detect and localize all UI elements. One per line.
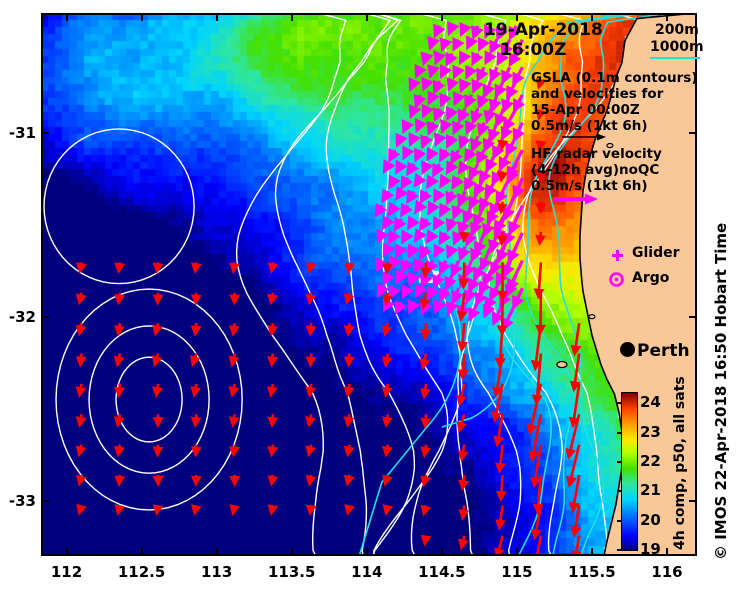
hf-radar-velocity-arrow xyxy=(398,274,401,279)
hf-radar-velocity-arrow xyxy=(466,205,472,220)
gsla-velocity-arrow xyxy=(119,293,120,302)
colorbar-tick xyxy=(617,461,622,463)
hf-radar-velocity-arrow xyxy=(409,192,414,200)
hf-radar-velocity-arrow xyxy=(467,95,471,105)
hf-radar-velocity-arrow xyxy=(476,178,484,193)
hf-radar-velocity-arrow xyxy=(423,136,426,144)
hf-radar-velocity-arrow xyxy=(422,219,427,227)
glider-marker-icon xyxy=(611,249,624,262)
y-axis-tick xyxy=(42,132,49,134)
hf-radar-velocity-arrow xyxy=(468,67,472,75)
hf-radar-velocity-arrow xyxy=(436,109,439,118)
hf-radar-velocity-arrow xyxy=(509,81,517,95)
hf-radar-velocity-arrow xyxy=(470,274,478,287)
hf-radar-velocity-arrow xyxy=(435,164,440,173)
hf-radar-velocity-arrow xyxy=(448,53,452,62)
hf-radar-velocity-arrow xyxy=(455,233,458,241)
gsla-description: GSLA (0.1m contours) and velocities for … xyxy=(531,70,698,134)
gsla-velocity-arrow xyxy=(157,505,158,512)
hf-radar-velocity-arrow xyxy=(447,274,452,286)
gsla-velocity-arrow xyxy=(463,475,465,487)
gsla-velocity-arrow xyxy=(425,445,426,454)
gsla-velocity-arrow xyxy=(424,475,426,483)
hf-radar-velocity-arrow xyxy=(454,178,459,186)
hf-radar-velocity-arrow xyxy=(498,109,504,123)
gsla-velocity-arrow xyxy=(309,414,311,423)
hf-radar-velocity-arrow xyxy=(443,123,446,130)
gsla-velocity-arrow xyxy=(118,445,119,454)
hf-radar-velocity-arrow xyxy=(390,150,394,158)
hf-radar-velocity-arrow xyxy=(431,40,433,46)
hf-radar-velocity-arrow xyxy=(492,40,497,50)
gsla-velocity-arrow xyxy=(573,475,579,509)
hf-radar-velocity-arrow xyxy=(461,136,465,145)
colorbar-title: 4h comp, p50, all sats xyxy=(672,400,688,550)
gsla-velocity-arrow xyxy=(348,475,350,482)
hf-radar-velocity-arrow xyxy=(422,247,427,256)
hf-radar-velocity-arrow xyxy=(431,67,433,74)
gsla-velocity-arrow xyxy=(81,354,82,364)
gsla-velocity-arrow xyxy=(501,171,502,178)
hf-radar-velocity-arrow xyxy=(486,302,491,314)
hf-radar-velocity-arrow xyxy=(460,164,465,171)
gsla-scale-arrow-icon xyxy=(561,131,607,143)
hf-radar-velocity-arrow xyxy=(474,109,478,120)
gsla-velocity-arrow xyxy=(464,262,465,285)
hf-radar-velocity-arrow xyxy=(437,53,440,60)
x-axis-tick-label: 115.5 xyxy=(568,563,615,581)
x-axis-tick xyxy=(666,548,668,555)
gsla-velocity-arrow xyxy=(424,384,426,396)
gsla-velocity-arrow xyxy=(386,354,388,364)
hf-radar-velocity-arrow xyxy=(398,164,402,170)
hf-radar-velocity-arrow xyxy=(461,247,465,257)
gsla-velocity-arrow xyxy=(158,445,159,454)
gsla-velocity-arrow xyxy=(234,262,235,269)
hf-radar-velocity-arrow xyxy=(488,109,491,120)
hf-radar-velocity-arrow xyxy=(379,288,382,293)
date-label: 19-Apr-2018 xyxy=(484,20,603,40)
hf-radar-velocity-arrow xyxy=(442,95,446,103)
island xyxy=(557,362,567,368)
gsla-velocity-arrow xyxy=(118,414,120,423)
hf-radar-velocity-arrow xyxy=(455,40,459,48)
hf-radar-velocity-arrow xyxy=(468,233,472,243)
colorbar-tick-label: 24 xyxy=(640,393,661,411)
gsla-velocity-arrow xyxy=(195,505,196,511)
hf-radar-velocity-arrow xyxy=(404,123,407,130)
time-label: 16:00Z xyxy=(500,40,566,60)
gsla-velocity-arrow xyxy=(501,475,503,498)
gsla-contour-line xyxy=(44,129,194,284)
hf-radar-velocity-arrow xyxy=(461,219,465,231)
hf-radar-velocity-arrow xyxy=(404,288,407,294)
colorbar-tick-label: 21 xyxy=(640,481,661,499)
hf-radar-velocity-arrow xyxy=(450,26,452,31)
hf-radar-velocity-arrow xyxy=(473,136,477,147)
hf-radar-velocity-arrow xyxy=(468,123,472,131)
hf-radar-velocity-arrow xyxy=(409,164,414,172)
hf-radar-velocity-arrow xyxy=(441,233,446,241)
glider-legend-label: Glider xyxy=(632,245,680,261)
colorbar-tick xyxy=(617,490,622,492)
colorbar-tick xyxy=(617,520,622,522)
hf-radar-velocity-arrow xyxy=(417,261,421,269)
hf-radar-velocity-arrow xyxy=(442,178,446,185)
hf-radar-velocity-arrow xyxy=(466,261,471,274)
hf-radar-velocity-arrow xyxy=(396,219,401,227)
hf-radar-velocity-arrow xyxy=(471,164,478,176)
x-axis-tick xyxy=(441,548,443,555)
x-axis-tick-label: 113 xyxy=(201,563,232,581)
hf-radar-velocity-arrow xyxy=(397,302,401,311)
gsla-velocity-arrow xyxy=(157,262,158,269)
gsla-velocity-arrow xyxy=(272,414,273,424)
x-axis-tick-label: 116 xyxy=(651,563,682,581)
hf-radar-velocity-arrow xyxy=(491,123,497,139)
hf-radar-velocity-arrow xyxy=(436,247,440,254)
hf-radar-velocity-arrow xyxy=(441,288,446,298)
hf-radar-velocity-arrow xyxy=(411,81,414,87)
gsla-velocity-arrow xyxy=(386,384,388,394)
hf-radar-velocity-arrow xyxy=(460,109,465,119)
colorbar-tick-label: 22 xyxy=(640,452,661,470)
gsla-velocity-arrow xyxy=(310,475,312,483)
gsla-contour-line xyxy=(116,357,182,442)
hf-radar-velocity-arrow xyxy=(398,136,401,143)
gsla-velocity-arrow xyxy=(80,475,82,483)
hf-radar-velocity-arrow xyxy=(391,178,395,185)
gsla-velocity-arrow xyxy=(195,323,196,332)
hf-radar-velocity-arrow xyxy=(418,123,421,129)
gsla-velocity-arrow xyxy=(575,505,580,533)
hf-radar-velocity-arrow xyxy=(385,302,388,308)
figure-root: 19-Apr-2018 16:00Z 200m 1000m GSLA (0.1m… xyxy=(0,0,739,592)
hf-radar-description: HF radar velocity (4-12h avg)noQC 0.5m/s… xyxy=(531,146,662,194)
gsla-velocity-arrow xyxy=(349,354,350,364)
hf-radar-velocity-arrow xyxy=(384,192,388,199)
x-axis-tick-label: 114.5 xyxy=(418,563,465,581)
hf-radar-velocity-arrow xyxy=(486,136,491,148)
x-axis-tick xyxy=(591,548,593,555)
y-axis-tick xyxy=(689,316,696,318)
hf-radar-velocity-arrow xyxy=(448,136,452,144)
gsla-velocity-arrow xyxy=(272,505,273,511)
hf-radar-velocity-arrow xyxy=(379,261,382,268)
hf-radar-velocity-arrow xyxy=(474,53,478,61)
hf-radar-velocity-arrow xyxy=(462,81,465,88)
y-axis-tick-label: -31 xyxy=(9,124,36,142)
gsla-velocity-arrow xyxy=(233,505,234,511)
hf-radar-velocity-arrow xyxy=(417,67,420,74)
gsla-velocity-arrow xyxy=(309,445,311,454)
x-axis-tick xyxy=(516,548,518,555)
hf-radar-velocity-arrow xyxy=(437,302,440,310)
gsla-velocity-arrow xyxy=(497,414,502,443)
gsla-velocity-arrow xyxy=(425,414,426,424)
gsla-contour-line xyxy=(237,13,346,556)
hf-radar-velocity-arrow xyxy=(448,164,452,171)
x-axis-tick xyxy=(66,14,68,21)
bathymetry-1000m-label: 1000m xyxy=(650,39,704,55)
x-axis-tick xyxy=(141,14,143,21)
hf-radar-velocity-arrow xyxy=(430,123,433,131)
x-axis-tick-label: 112.5 xyxy=(118,563,165,581)
x-axis-tick-label: 113.5 xyxy=(268,563,315,581)
y-axis-tick xyxy=(689,132,696,134)
gsla-velocity-arrow xyxy=(540,232,541,242)
gsla-velocity-arrow xyxy=(574,354,579,389)
hf-radar-velocity-arrow xyxy=(417,95,420,104)
gsla-velocity-arrow xyxy=(310,384,311,394)
hf-radar-velocity-arrow xyxy=(403,205,408,213)
gsla-velocity-arrow xyxy=(156,323,158,332)
gsla-velocity-arrow xyxy=(196,445,197,454)
hf-radar-scale-arrow-icon xyxy=(553,192,599,206)
copyright-credit: © IMOS 22-Apr-2018 16:50 Hobart Time xyxy=(712,223,730,560)
hf-radar-velocity-arrow xyxy=(417,150,421,158)
x-axis-tick xyxy=(216,548,218,555)
hf-radar-velocity-arrow xyxy=(469,40,472,46)
hf-radar-velocity-arrow xyxy=(462,26,465,32)
hf-radar-velocity-arrow xyxy=(474,81,477,89)
bathymetry-1000m-rule xyxy=(650,57,700,59)
hf-radar-velocity-arrow xyxy=(435,274,439,284)
hf-radar-velocity-arrow xyxy=(485,219,490,233)
gsla-contour-line xyxy=(56,289,242,510)
gsla-velocity-arrow xyxy=(462,323,464,348)
gsla-velocity-arrow xyxy=(195,414,196,424)
hf-radar-velocity-arrow xyxy=(385,247,388,253)
hf-radar-velocity-arrow xyxy=(417,288,420,294)
gsla-velocity-arrow xyxy=(80,262,81,269)
colorbar-tick xyxy=(617,402,622,404)
hf-radar-velocity-arrow xyxy=(450,302,453,311)
hf-radar-velocity-arrow xyxy=(416,178,420,184)
gsla-velocity-arrow xyxy=(272,323,273,332)
hf-radar-velocity-arrow xyxy=(515,67,523,82)
gsla-velocity-arrow xyxy=(233,323,234,332)
gsla-velocity-arrow xyxy=(348,505,349,511)
gsla-velocity-arrow xyxy=(118,354,120,364)
hf-radar-velocity-arrow xyxy=(467,150,472,158)
hf-radar-velocity-arrow xyxy=(430,95,433,101)
argo-legend-label: Argo xyxy=(632,270,669,286)
hf-radar-velocity-arrow xyxy=(474,26,477,35)
gsla-velocity-arrow xyxy=(462,536,464,546)
gsla-velocity-arrow xyxy=(347,293,349,301)
hf-radar-velocity-arrow xyxy=(471,192,478,206)
y-axis-tick xyxy=(689,500,696,502)
gsla-contour-line xyxy=(326,13,414,556)
x-axis-tick xyxy=(141,548,143,555)
hf-radar-velocity-arrow xyxy=(453,261,458,274)
hf-radar-velocity-arrow xyxy=(377,205,382,213)
hf-radar-velocity-arrow xyxy=(442,205,446,213)
hf-radar-velocity-arrow xyxy=(480,95,484,105)
gsla-velocity-arrow xyxy=(196,475,197,483)
hf-radar-velocity-arrow xyxy=(505,95,510,109)
hf-radar-velocity-arrow xyxy=(422,192,427,200)
hf-radar-velocity-arrow xyxy=(436,26,440,34)
gsla-velocity-arrow xyxy=(348,323,349,332)
hf-radar-velocity-arrow xyxy=(379,233,382,239)
hf-radar-velocity-arrow xyxy=(455,123,459,131)
x-axis-tick xyxy=(366,548,368,555)
gsla-velocity-arrow xyxy=(272,262,273,269)
colorbar-tick-label: 20 xyxy=(640,511,661,529)
gsla-velocity-arrow xyxy=(310,262,311,269)
hf-radar-velocity-arrow xyxy=(441,261,446,271)
gsla-velocity-arrow xyxy=(423,354,426,367)
hf-radar-velocity-arrow xyxy=(479,150,485,161)
hf-radar-velocity-arrow xyxy=(455,67,458,75)
gsla-velocity-arrow xyxy=(80,414,82,423)
x-axis-tick xyxy=(441,14,443,21)
gsla-velocity-arrow xyxy=(348,445,350,454)
x-axis-tick xyxy=(591,14,593,21)
gsla-velocity-arrow xyxy=(502,232,503,242)
gsla-contour-line xyxy=(275,13,389,556)
gsla-velocity-arrow xyxy=(80,323,82,332)
x-axis-tick xyxy=(216,14,218,21)
argo-marker-icon xyxy=(609,272,624,287)
hf-radar-velocity-arrow xyxy=(417,233,421,239)
hf-radar-velocity-arrow xyxy=(441,150,445,158)
gsla-velocity-arrow xyxy=(196,293,197,302)
gsla-velocity-arrow xyxy=(233,414,234,424)
gsla-velocity-arrow xyxy=(310,505,311,512)
hf-radar-velocity-arrow xyxy=(473,247,478,258)
hf-radar-velocity-arrow xyxy=(403,261,408,270)
gsla-velocity-arrow xyxy=(272,445,273,454)
gsla-velocity-arrow xyxy=(118,505,119,511)
island xyxy=(589,315,595,319)
hf-radar-velocity-arrow xyxy=(435,219,439,226)
hf-radar-velocity-arrow xyxy=(435,81,439,90)
gsla-velocity-arrow xyxy=(272,475,273,483)
x-axis-tick-label: 114 xyxy=(351,563,382,581)
perth-city-label: Perth xyxy=(637,341,690,361)
y-axis-tick-label: -33 xyxy=(9,492,36,510)
gsla-velocity-arrow xyxy=(386,293,387,302)
hf-radar-velocity-arrow xyxy=(455,205,459,215)
y-axis-tick-label: -32 xyxy=(9,308,36,326)
hf-radar-velocity-arrow xyxy=(429,233,434,240)
sst-colorbar xyxy=(621,392,638,551)
hf-radar-velocity-arrow xyxy=(405,150,408,156)
hf-radar-velocity-arrow xyxy=(456,95,459,102)
gsla-velocity-arrow xyxy=(385,323,387,333)
gsla-velocity-arrow xyxy=(155,354,158,364)
gsla-velocity-arrow xyxy=(463,505,464,516)
gsla-velocity-arrow xyxy=(575,536,579,556)
gsla-velocity-arrow xyxy=(386,414,387,424)
gsla-velocity-arrow xyxy=(80,505,82,511)
gsla-velocity-arrow xyxy=(119,384,120,394)
colorbar-tick-label: 19 xyxy=(640,540,661,558)
hf-radar-velocity-arrow xyxy=(424,164,427,171)
hf-radar-velocity-arrow xyxy=(403,178,408,186)
hf-radar-velocity-arrow xyxy=(461,53,465,60)
y-axis-tick xyxy=(42,500,49,502)
hf-radar-velocity-arrow xyxy=(504,67,510,80)
gsla-velocity-arrow xyxy=(502,141,503,147)
hf-radar-velocity-arrow xyxy=(449,247,452,255)
y-axis-tick xyxy=(42,316,49,318)
bathymetry-200m-label: 200m xyxy=(655,22,699,38)
hf-radar-velocity-arrow xyxy=(424,53,426,61)
hf-radar-velocity-arrow xyxy=(390,233,394,240)
hf-radar-velocity-arrow xyxy=(479,67,484,78)
hf-radar-velocity-arrow xyxy=(424,109,426,114)
hf-radar-velocity-arrow xyxy=(410,219,414,226)
gsla-velocity-arrow xyxy=(272,354,273,364)
gsla-velocity-arrow xyxy=(119,323,120,332)
hf-radar-velocity-arrow xyxy=(392,261,395,266)
hf-radar-velocity-arrow xyxy=(430,205,433,211)
hf-radar-velocity-arrow xyxy=(398,192,401,197)
colorbar-tick xyxy=(617,432,622,434)
hf-radar-velocity-arrow xyxy=(460,192,465,204)
gsla-velocity-arrow xyxy=(157,384,158,394)
hf-radar-velocity-arrow xyxy=(493,95,497,108)
gsla-velocity-arrow xyxy=(310,293,312,301)
gsla-velocity-arrow xyxy=(80,384,82,394)
hf-radar-velocity-arrow xyxy=(410,247,414,254)
gsla-velocity-arrow xyxy=(425,323,426,336)
hf-radar-velocity-arrow xyxy=(442,67,446,74)
gsla-velocity-arrow xyxy=(349,262,350,270)
gsla-velocity-arrow xyxy=(386,505,387,512)
x-axis-tick-label: 112 xyxy=(51,563,82,581)
hf-radar-velocity-arrow xyxy=(449,219,452,228)
x-axis-tick xyxy=(666,14,668,21)
gsla-velocity-arrow xyxy=(80,293,82,301)
x-axis-tick xyxy=(366,14,368,21)
gsla-velocity-arrow xyxy=(462,445,464,458)
gsla-velocity-arrow xyxy=(271,384,273,394)
gsla-velocity-arrow xyxy=(271,293,272,301)
hf-radar-velocity-arrow xyxy=(487,178,497,194)
hf-radar-velocity-arrow xyxy=(504,302,516,327)
hf-radar-velocity-arrow xyxy=(429,288,433,296)
perth-city-marker xyxy=(620,342,635,357)
gsla-velocity-arrow xyxy=(424,505,426,512)
gsla-velocity-arrow xyxy=(193,354,196,364)
hf-radar-velocity-arrow xyxy=(429,178,433,185)
gsla-velocity-arrow xyxy=(234,445,235,454)
x-axis-tick xyxy=(516,14,518,21)
hf-radar-velocity-arrow xyxy=(473,219,478,231)
gsla-velocity-arrow xyxy=(536,536,541,556)
gsla-velocity-arrow xyxy=(119,262,120,269)
gsla-velocity-arrow xyxy=(310,323,311,332)
gsla-velocity-arrow xyxy=(119,475,120,483)
hf-radar-velocity-arrow xyxy=(412,109,414,115)
hf-radar-velocity-arrow xyxy=(411,274,414,282)
gsla-contour-line xyxy=(89,326,209,473)
gsla-velocity-arrow xyxy=(194,384,196,394)
hf-radar-velocity-arrow xyxy=(480,40,484,48)
gsla-velocity-arrow xyxy=(461,293,464,318)
gsla-velocity-arrow xyxy=(348,384,349,394)
gsla-velocity-arrow xyxy=(463,354,465,377)
gsla-velocity-arrow xyxy=(425,262,426,274)
hf-radar-velocity-arrow xyxy=(450,81,453,87)
gsla-velocity-arrow xyxy=(498,536,503,556)
x-axis-tick xyxy=(66,548,68,555)
